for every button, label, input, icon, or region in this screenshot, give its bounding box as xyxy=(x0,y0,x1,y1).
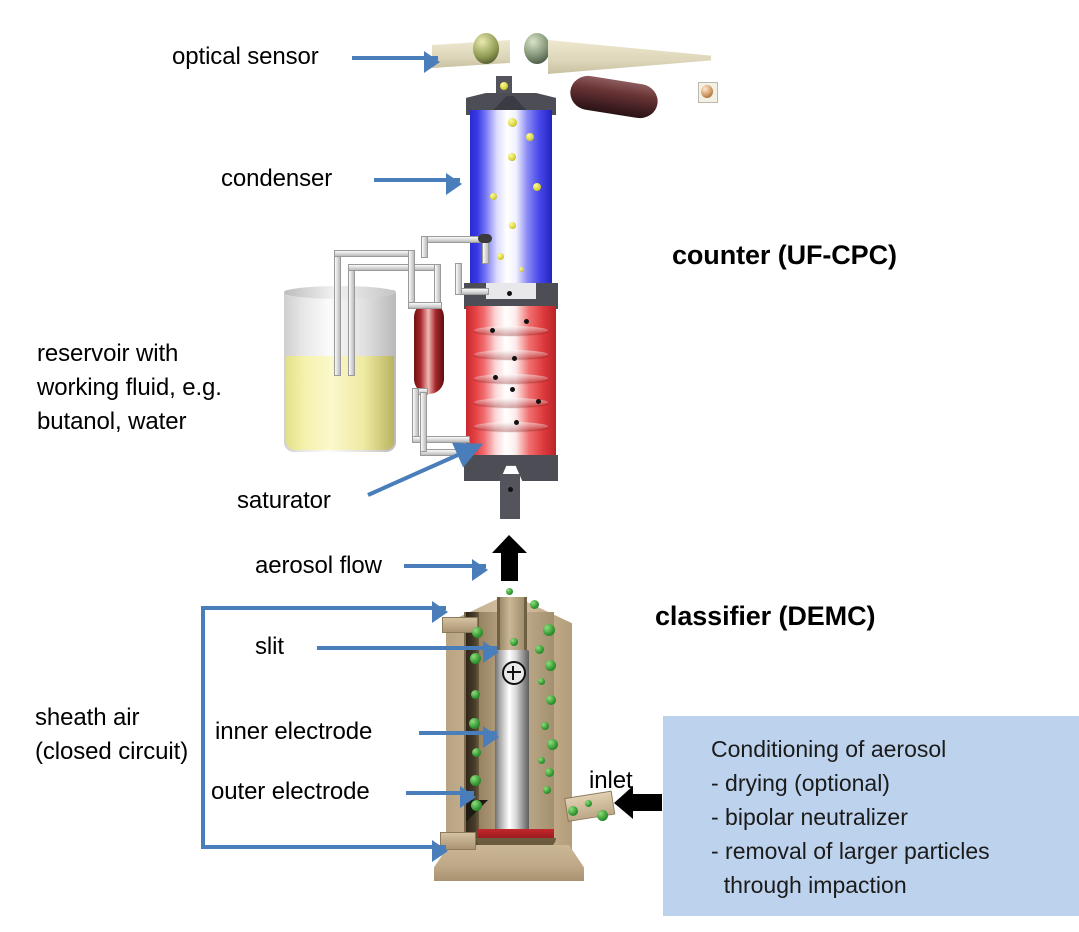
label-classifier-header: classifier (DEMC) xyxy=(655,601,875,631)
particle xyxy=(470,775,481,786)
tube xyxy=(348,264,440,271)
particle xyxy=(545,768,554,777)
plus-circle-icon xyxy=(502,661,526,685)
saturator-body xyxy=(466,306,556,458)
arrow-shaft xyxy=(501,551,518,581)
droplet xyxy=(508,118,517,127)
label-inlet: inlet xyxy=(589,766,633,796)
label-counter-header: counter (UF-CPC) xyxy=(672,240,897,270)
tube xyxy=(334,250,414,257)
droplet xyxy=(508,153,516,161)
arrow-saturator-svg xyxy=(366,438,490,498)
port-dot xyxy=(514,420,519,425)
pressure-vessel xyxy=(414,302,444,394)
particle xyxy=(545,660,556,671)
port-dot xyxy=(490,328,495,333)
black-up-arrow-icon xyxy=(492,535,527,581)
photodetector-element xyxy=(701,85,713,98)
label-outer-electrode: outer electrode xyxy=(211,777,370,807)
port-dot xyxy=(493,375,498,380)
arrow-inner-electrode xyxy=(419,731,497,735)
label-reservoir: reservoir with working fluid, e.g. butan… xyxy=(37,337,222,439)
arrow-sheath-air-bottom xyxy=(201,845,446,849)
particle xyxy=(472,748,481,757)
droplet xyxy=(526,133,534,141)
arrow-condenser xyxy=(374,178,460,182)
info-box-item: - removal of larger particles xyxy=(711,834,1079,868)
tube xyxy=(421,236,428,258)
label-aerosol-flow: aerosol flow xyxy=(255,551,382,581)
tube xyxy=(334,250,341,376)
arrow-sheath-air-top xyxy=(201,606,446,610)
arrow-shaft xyxy=(632,794,662,811)
port-dot xyxy=(510,387,515,392)
droplet xyxy=(509,222,516,229)
optical-sensor-right-arm xyxy=(548,40,711,74)
label-condenser: condenser xyxy=(221,164,332,194)
arrow-outer-electrode xyxy=(406,791,474,795)
particle xyxy=(597,810,608,821)
arrow-optical-sensor xyxy=(352,56,438,60)
label-saturator: saturator xyxy=(237,486,331,516)
laser-cylinder-icon xyxy=(568,73,660,120)
label-optical-sensor: optical sensor xyxy=(172,42,319,72)
particle xyxy=(546,695,556,705)
tube xyxy=(408,302,442,309)
particle xyxy=(543,624,555,636)
info-box-item: - bipolar neutralizer xyxy=(711,800,1079,834)
particle xyxy=(535,645,544,654)
droplet xyxy=(500,82,508,90)
particle xyxy=(541,722,549,730)
port-dot xyxy=(512,356,517,361)
particle xyxy=(585,800,592,807)
droplet xyxy=(533,183,541,191)
saturator-coil xyxy=(474,326,548,335)
port-dot xyxy=(507,291,512,296)
sheath-air-bracket-vertical xyxy=(201,608,205,849)
particle xyxy=(530,600,539,609)
particle xyxy=(547,739,558,750)
particle xyxy=(568,806,578,816)
optical-sensor-lens-right xyxy=(524,33,550,64)
arrow-saturator xyxy=(366,438,490,498)
droplet xyxy=(490,193,497,200)
tube xyxy=(408,250,415,308)
classifier-base xyxy=(434,845,584,881)
particle xyxy=(471,690,480,699)
tube xyxy=(455,263,462,295)
conditioning-info-box: Conditioning of aerosol - drying (option… xyxy=(663,716,1079,916)
port-dot xyxy=(536,399,541,404)
particle xyxy=(543,786,551,794)
saturator-coil xyxy=(474,422,548,431)
info-box-heading: Conditioning of aerosol xyxy=(711,732,1079,766)
label-inner-electrode: inner electrode xyxy=(215,717,372,747)
particle xyxy=(470,653,481,664)
saturator-outlet-stem xyxy=(500,474,520,519)
particle xyxy=(469,718,480,729)
particle xyxy=(472,627,483,638)
arrow-aerosol-flow xyxy=(404,564,486,568)
optical-sensor-lens-left xyxy=(473,33,499,64)
info-box-item: - drying (optional) xyxy=(711,766,1079,800)
droplet xyxy=(497,253,504,260)
port-dot xyxy=(524,319,529,324)
tube-end-cap xyxy=(478,234,492,243)
diagram-canvas: optical sensor condenser counter (UF-CPC… xyxy=(0,0,1079,932)
particle xyxy=(510,638,518,646)
droplet xyxy=(519,267,524,272)
label-slit: slit xyxy=(255,632,284,662)
tube xyxy=(412,388,419,442)
particle xyxy=(538,678,545,685)
saturator-coil xyxy=(474,350,548,359)
particle xyxy=(538,757,545,764)
saturator-coil xyxy=(474,374,548,383)
port-dot xyxy=(508,487,513,492)
tube xyxy=(348,264,355,376)
label-sheath-air: sheath air (closed circuit) xyxy=(35,701,188,769)
info-box-item: through impaction xyxy=(711,868,1079,902)
arrow-slit xyxy=(317,646,497,650)
particle xyxy=(506,588,513,595)
